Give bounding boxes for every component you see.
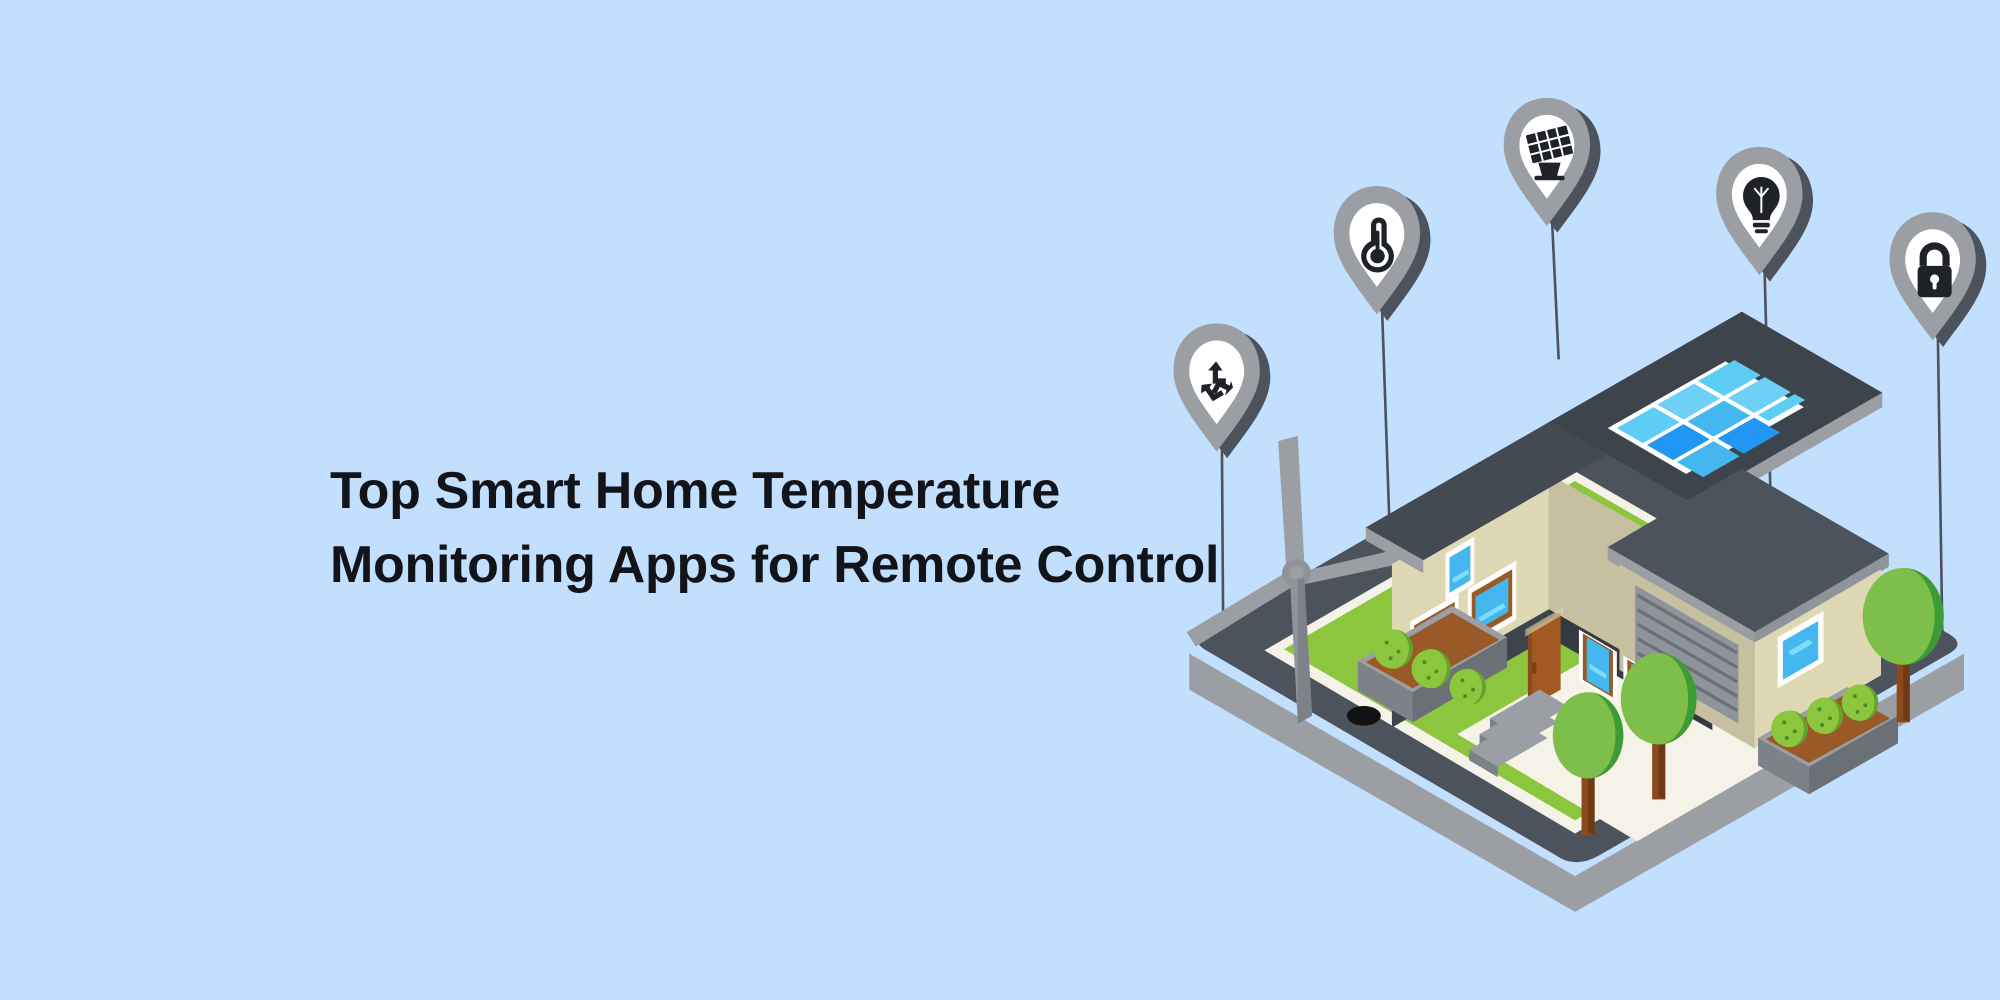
banner-root: Top Smart Home Temperature Monitoring Ap… xyxy=(0,0,2000,1000)
headline-line-1: Top Smart Home Temperature xyxy=(330,455,1210,529)
pin-solar-panel[interactable] xyxy=(1504,98,1601,233)
turbine-blade-top xyxy=(1278,436,1304,564)
pin-stem-recycle xyxy=(1222,448,1223,638)
smart-home-illustration xyxy=(1150,60,2000,940)
pin-recycle[interactable] xyxy=(1174,323,1271,458)
headline-line-2: Monitoring Apps for Remote Control xyxy=(330,529,1210,603)
page-title: Top Smart Home Temperature Monitoring Ap… xyxy=(330,455,1210,603)
pin-stem-solar-panel xyxy=(1552,222,1559,359)
pin-thermometer[interactable] xyxy=(1334,186,1431,321)
pin-lock[interactable] xyxy=(1890,212,1987,347)
door-handle-icon xyxy=(1532,662,1537,674)
pin-lightbulb[interactable] xyxy=(1716,147,1813,282)
home-button-icon xyxy=(1347,706,1381,726)
